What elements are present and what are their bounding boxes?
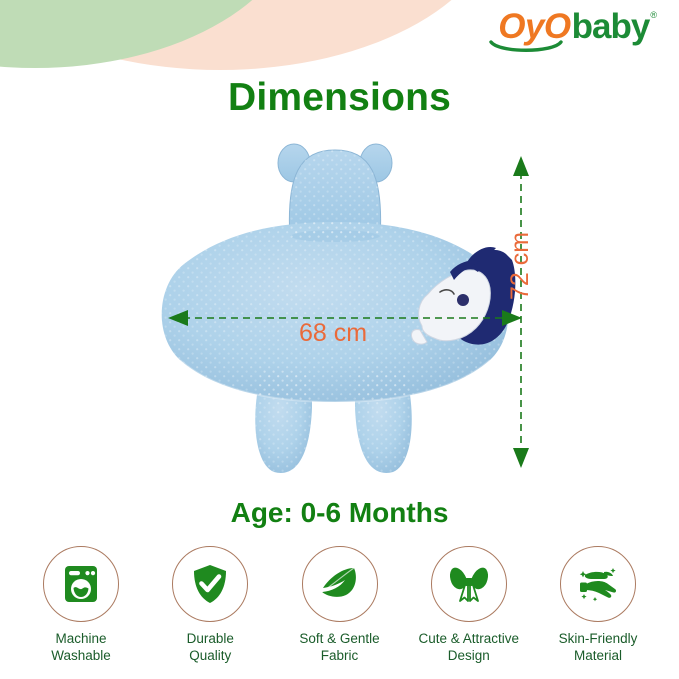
feature-cute-attractive-design: Cute & AttractiveDesign [410, 546, 528, 665]
feature-machine-washable: MachineWashable [22, 546, 140, 665]
logo-smile-icon [489, 40, 563, 54]
width-dimension-label: 68 cm [258, 319, 408, 348]
feature-soft-gentle-fabric: Soft & GentleFabric [281, 546, 399, 665]
leaf-icon [318, 563, 362, 605]
feature-label: Cute & AttractiveDesign [418, 631, 519, 665]
page-title: Dimensions [0, 76, 679, 120]
gentle-hands-icon [575, 563, 621, 605]
shield-check-icon [189, 563, 231, 605]
feature-label: MachineWashable [51, 631, 111, 665]
washing-machine-icon [60, 563, 102, 605]
logo-oyo-text: OyO [498, 9, 570, 44]
feature-icon-circle [560, 546, 636, 622]
feature-icon-circle [431, 546, 507, 622]
registered-trademark-icon: ® [650, 11, 657, 20]
logo-baby-text: baby [572, 9, 650, 44]
feature-skin-friendly-material: Skin-FriendlyMaterial [539, 546, 657, 665]
feature-label: Soft & GentleFabric [299, 631, 379, 665]
product-image [150, 140, 520, 480]
feature-icon-circle [43, 546, 119, 622]
age-label: Age: 0-6 Months [0, 497, 679, 529]
feature-label: Skin-FriendlyMaterial [559, 631, 638, 665]
height-dimension-label: 72 cm [506, 232, 535, 300]
bow-ribbon-icon [447, 563, 491, 605]
feature-icon-circle [172, 546, 248, 622]
feature-list: MachineWashable DurableQuality Soft & Ge… [0, 546, 679, 665]
feature-durable-quality: DurableQuality [151, 546, 269, 665]
brand-logo: OyO baby ® [498, 9, 657, 44]
infographic-page: OyO baby ® Dimensions [0, 0, 679, 679]
feature-label: DurableQuality [187, 631, 234, 665]
feature-icon-circle [302, 546, 378, 622]
